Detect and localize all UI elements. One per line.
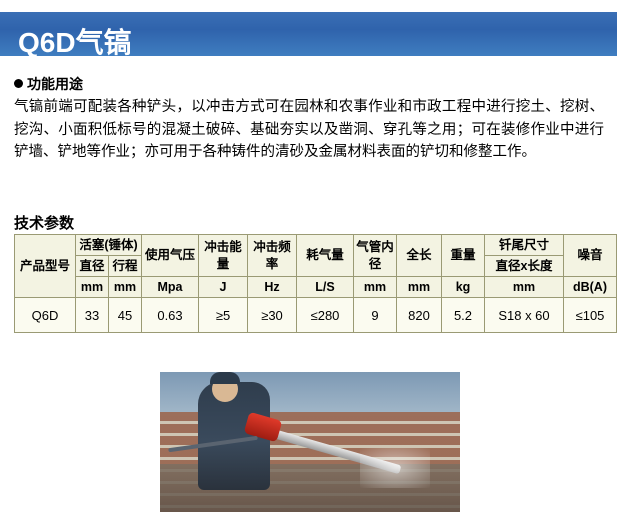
photo-worker-cap (210, 372, 240, 384)
unit-shank: mm (485, 277, 564, 298)
unit-piston-dia: mm (76, 277, 109, 298)
unit-noise: dB(A) (564, 277, 617, 298)
unit-pressure: Mpa (142, 277, 199, 298)
photo-dust (360, 448, 430, 488)
unit-piston-stroke: mm (109, 277, 142, 298)
th-pressure: 使用气压 (142, 235, 199, 277)
th-weight: 重量 (442, 235, 485, 277)
params-heading: 技术参数 (14, 212, 74, 233)
cell-model: Q6D (15, 298, 76, 333)
page-title: Q6D气镐 (18, 27, 132, 59)
th-piston-stroke: 行程 (109, 256, 142, 277)
th-impact-freq: 冲击频率 (248, 235, 297, 277)
unit-impact-freq: Hz (248, 277, 297, 298)
th-air-consumption: 耗气量 (297, 235, 354, 277)
th-impact-energy: 冲击能量 (199, 235, 248, 277)
unit-air-consumption: L/S (297, 277, 354, 298)
th-shank-sub: 直径x长度 (485, 256, 564, 277)
cell-weight: 5.2 (442, 298, 485, 333)
cell-impact-freq: ≥30 (248, 298, 297, 333)
unit-impact-energy: J (199, 277, 248, 298)
unit-hose-id: mm (354, 277, 397, 298)
th-length: 全长 (397, 235, 442, 277)
usage-heading: 功能用途 (14, 74, 83, 94)
product-photo (160, 372, 460, 512)
th-shank-title: 钎尾尺寸 (485, 235, 564, 256)
unit-length: mm (397, 277, 442, 298)
th-hose-id: 气管内径 (354, 235, 397, 277)
cell-piston-dia: 33 (76, 298, 109, 333)
cell-hose-id: 9 (354, 298, 397, 333)
cell-impact-energy: ≥5 (199, 298, 248, 333)
th-piston-group: 活塞(锤体) (76, 235, 142, 256)
product-photo-image (160, 372, 460, 512)
cell-length: 820 (397, 298, 442, 333)
th-piston-dia: 直径 (76, 256, 109, 277)
usage-body: 气镐前端可配装各种铲头，以冲击方式可在园林和农事作业和市政工程中进行挖土、挖树、… (14, 96, 604, 164)
table-row: Q6D 33 45 0.63 ≥5 ≥30 ≤280 9 820 5.2 S18… (15, 298, 617, 333)
cell-piston-stroke: 45 (109, 298, 142, 333)
spec-table-head: 产品型号 活塞(锤体) 使用气压 冲击能量 冲击频率 耗气量 气管内径 全长 重… (15, 235, 617, 298)
usage-heading-label: 功能用途 (27, 76, 83, 92)
cell-pressure: 0.63 (142, 298, 199, 333)
spec-table-body: Q6D 33 45 0.63 ≥5 ≥30 ≤280 9 820 5.2 S18… (15, 298, 617, 333)
th-model: 产品型号 (15, 235, 76, 298)
cell-noise: ≤105 (564, 298, 617, 333)
table-header-row-1: 产品型号 活塞(锤体) 使用气压 冲击能量 冲击频率 耗气量 气管内径 全长 重… (15, 235, 617, 256)
cell-shank: S18 x 60 (485, 298, 564, 333)
title-bar: Q6D气镐 (0, 12, 617, 56)
spec-table: 产品型号 活塞(锤体) 使用气压 冲击能量 冲击频率 耗气量 气管内径 全长 重… (14, 234, 617, 333)
cell-air-consumption: ≤280 (297, 298, 354, 333)
bullet-icon (14, 79, 23, 88)
th-noise: 噪音 (564, 235, 617, 277)
document-page: Q6D气镐 功能用途 气镐前端可配装各种铲头，以冲击方式可在园林和农事作业和市政… (0, 0, 617, 520)
unit-weight: kg (442, 277, 485, 298)
table-header-row-3: mm mm Mpa J Hz L/S mm mm kg mm dB(A) (15, 277, 617, 298)
